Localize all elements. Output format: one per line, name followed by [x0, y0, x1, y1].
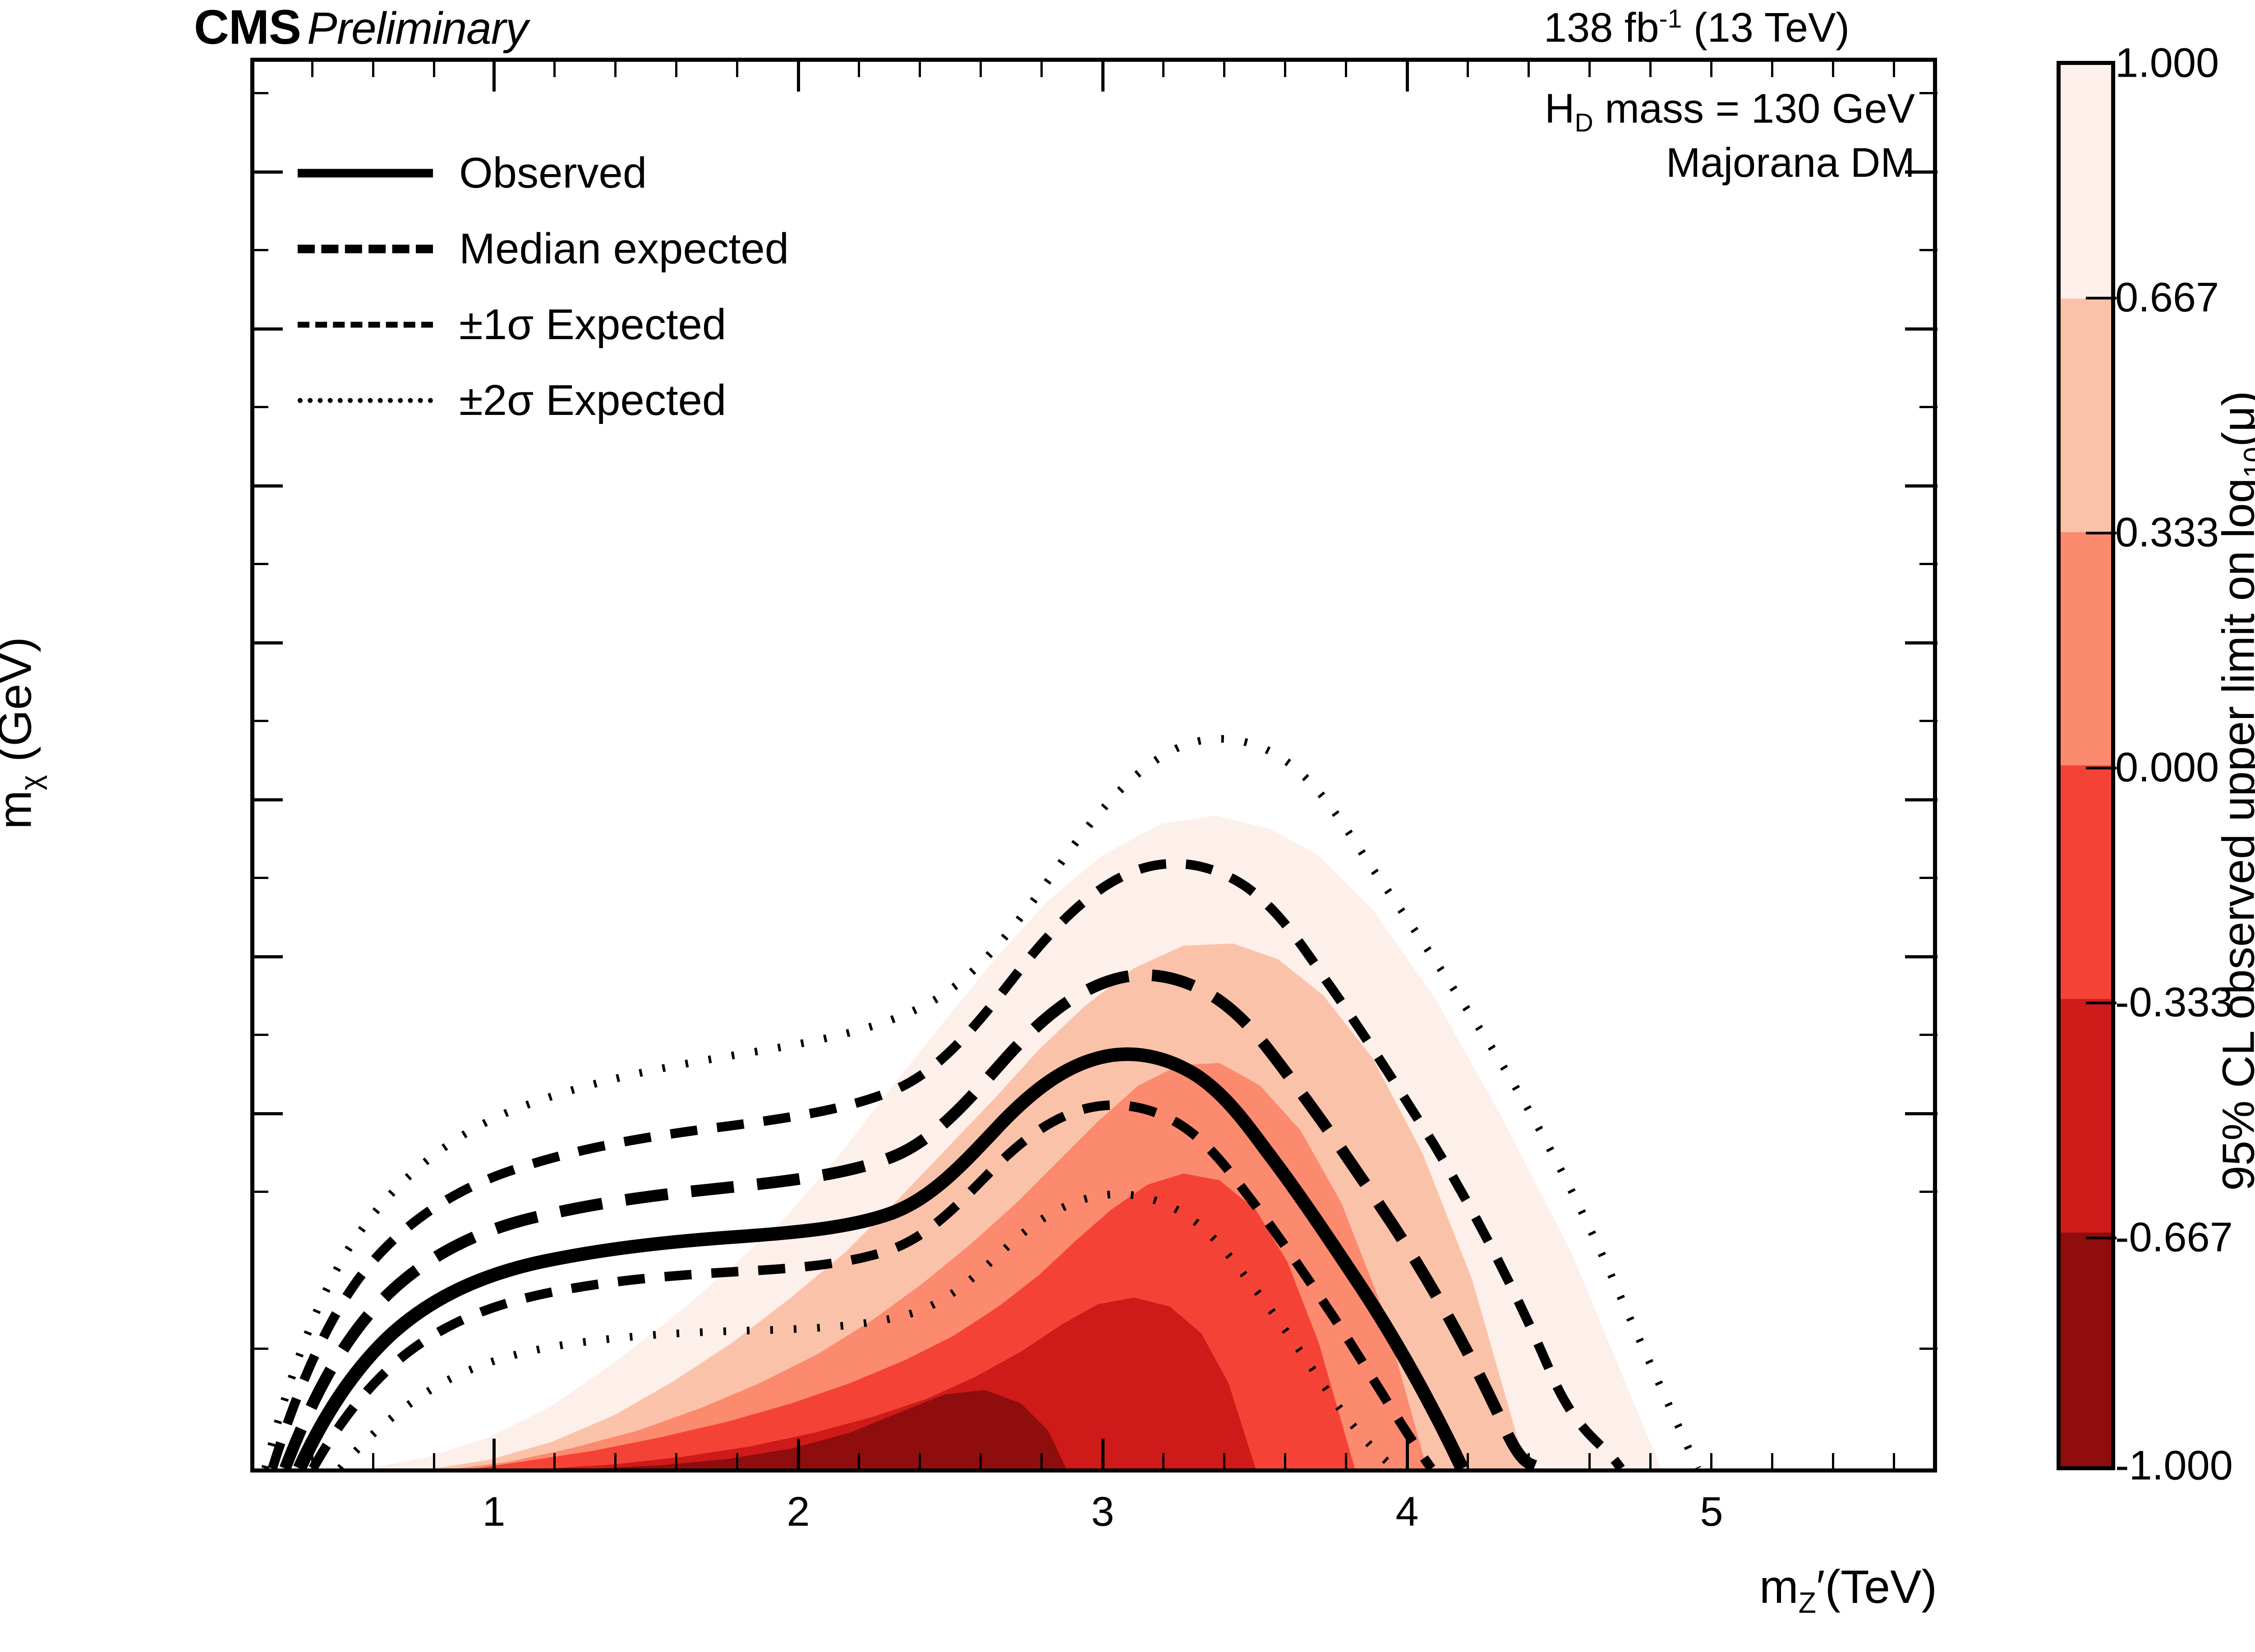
legend-label-observed: Observed: [459, 148, 647, 198]
annotation-dm-type: Majorana DM: [1545, 138, 1915, 188]
cms-logo-text: CMS: [194, 0, 301, 54]
legend-item-observed: Observed: [298, 135, 1064, 211]
lumi-value: 138 fb: [1544, 5, 1659, 51]
legend-item-2sigma: ±2σ Expected: [298, 363, 1064, 438]
legend-swatch-dotted-line: [298, 394, 433, 407]
colorbar-band-3: [2061, 765, 2111, 999]
plot-legend: Observed Median expected ±1σ Expected ±2…: [298, 135, 1064, 438]
cms-preliminary-label: CMSPreliminary: [194, 3, 528, 51]
colorbar-band-2: [2061, 999, 2111, 1233]
colorbar-band-4: [2061, 532, 2111, 766]
legend-label-median-expected: Median expected: [459, 224, 789, 274]
x-tick-label-5: 5: [1700, 1488, 1723, 1536]
preliminary-text: Preliminary: [301, 3, 528, 54]
colorbar-title: 95% CL observed upper limit on log10(μ): [2213, 92, 2255, 1490]
colorbar: [2057, 61, 2115, 1470]
legend-label-2sigma: ±2σ Expected: [459, 376, 726, 425]
annotation-block: HD mass = 130 GeV Majorana DM: [1545, 84, 1915, 187]
legend-swatch-short-dashed-line: [298, 318, 433, 331]
legend-label-1sigma: ±1σ Expected: [459, 300, 726, 350]
y-axis-title: mχ (GeV): [0, 237, 47, 1229]
legend-swatch-dashed-line: [298, 242, 433, 256]
x-axis-title: mZ′(TeV): [0, 1560, 1937, 1620]
colorbar-tick-0.000: 0.000: [2115, 744, 2219, 791]
colorbar-tick-1.000: 1.000: [2115, 40, 2219, 87]
legend-item-1sigma: ±1σ Expected: [298, 287, 1064, 363]
legend-item-median-expected: Median expected: [298, 211, 1064, 287]
lumi-exponent: -1: [1659, 5, 1682, 33]
luminosity-label: 138 fb-1 (13 TeV): [1544, 6, 1850, 49]
colorbar-band-1: [2061, 1233, 2111, 1466]
x-tick-label-1: 1: [482, 1488, 505, 1536]
annotation-hd-mass: HD mass = 130 GeV: [1545, 84, 1915, 138]
x-tick-label-4: 4: [1395, 1488, 1418, 1536]
x-tick-label-3: 3: [1091, 1488, 1114, 1536]
colorbar-band-5: [2061, 299, 2111, 532]
colorbar-tick-0.667: 0.667: [2115, 274, 2219, 322]
energy-value: (13 TeV): [1694, 5, 1850, 51]
colorbar-tick-0.333: 0.333: [2115, 509, 2219, 557]
colorbar-band-6: [2061, 65, 2111, 299]
legend-swatch-solid-line: [298, 166, 433, 180]
x-tick-label-2: 2: [787, 1488, 810, 1536]
